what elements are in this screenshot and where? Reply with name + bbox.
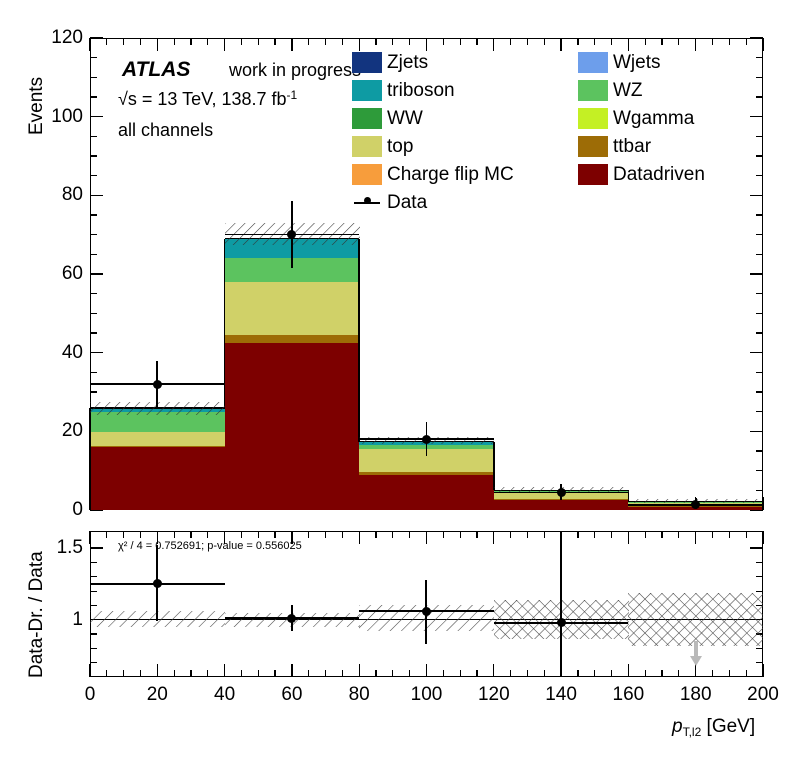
legend-swatch-charge-flip-mc <box>352 164 382 185</box>
legend-swatch-ttbar <box>578 136 608 157</box>
legend-item-wz[interactable]: WZ <box>578 80 643 101</box>
legend-label: Zjets <box>387 53 428 72</box>
legend-item-top[interactable]: top <box>352 136 413 157</box>
legend-label: Wgamma <box>613 109 694 128</box>
legend-item-datadriven[interactable]: Datadriven <box>578 164 705 185</box>
plot-canvas: Events Data-Dr. / Data pT,l2 [GeV] ATLAS… <box>0 0 796 772</box>
legend-item-wjets[interactable]: Wjets <box>578 52 661 73</box>
legend-label: WZ <box>613 81 643 100</box>
legend-label: ttbar <box>613 137 651 156</box>
legend-item-wgamma[interactable]: Wgamma <box>578 108 694 129</box>
legend-item-data[interactable]: Data <box>352 192 427 213</box>
legend-item-charge-flip-mc[interactable]: Charge flip MC <box>352 164 514 185</box>
legend-swatch-wjets <box>578 52 608 73</box>
legend-label: Datadriven <box>613 165 705 184</box>
legend-item-zjets[interactable]: Zjets <box>352 52 428 73</box>
legend-item-ttbar[interactable]: ttbar <box>578 136 651 157</box>
legend-label: Wjets <box>613 53 661 72</box>
legend-swatch-top <box>352 136 382 157</box>
legend-swatch-triboson <box>352 80 382 101</box>
legend-label: triboson <box>387 81 455 100</box>
legend-label: WW <box>387 109 423 128</box>
legend: ZjetsWjetstribosonWZWWWgammatopttbarChar… <box>0 0 796 772</box>
legend-swatch-zjets <box>352 52 382 73</box>
legend-label: Data <box>387 193 427 212</box>
legend-swatch-ww <box>352 108 382 129</box>
legend-item-ww[interactable]: WW <box>352 108 423 129</box>
legend-label: top <box>387 137 413 156</box>
legend-data-marker-icon <box>352 192 382 213</box>
legend-swatch-wz <box>578 80 608 101</box>
legend-item-triboson[interactable]: triboson <box>352 80 455 101</box>
legend-swatch-wgamma <box>578 108 608 129</box>
legend-label: Charge flip MC <box>387 165 514 184</box>
legend-swatch-datadriven <box>578 164 608 185</box>
